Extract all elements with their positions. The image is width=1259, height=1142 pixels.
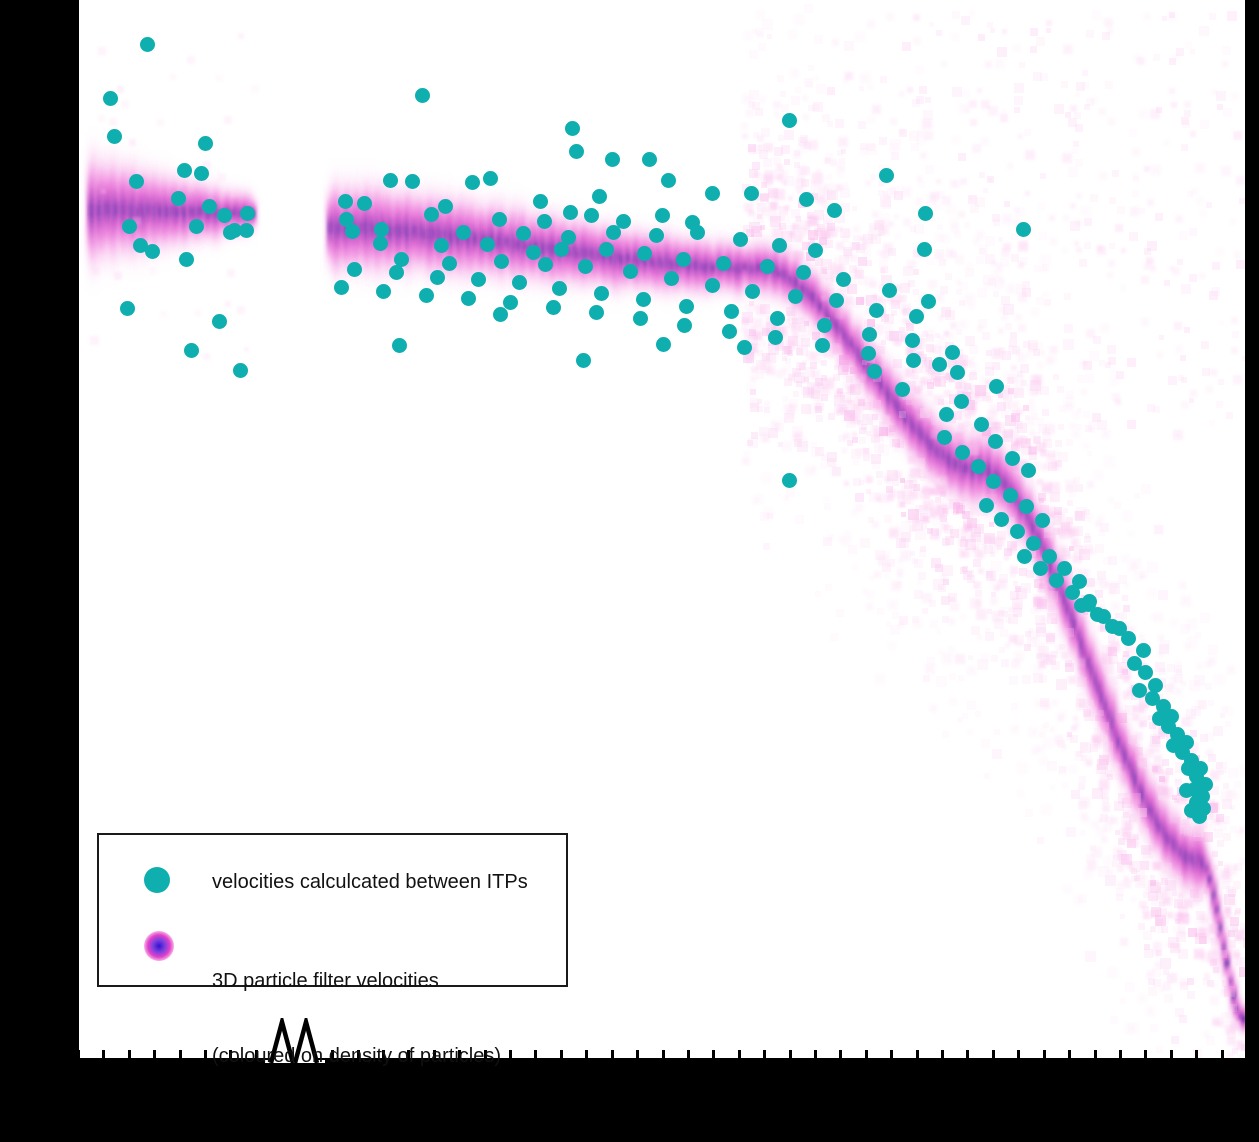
density-column [1094, 632, 1098, 727]
density-column [112, 132, 116, 288]
density-column [1128, 734, 1132, 795]
density-column [1134, 761, 1138, 800]
density-column [328, 181, 332, 275]
density-column [389, 210, 393, 252]
density-column [1124, 715, 1128, 798]
density-column [549, 245, 553, 253]
density-column [1158, 794, 1162, 860]
density-column [853, 323, 857, 374]
density-column [843, 330, 847, 341]
density-column [1087, 634, 1091, 692]
density-column [1083, 643, 1087, 663]
density-column [819, 300, 823, 313]
density-column [1172, 829, 1176, 860]
density-column [406, 227, 410, 237]
density-column [955, 434, 959, 495]
density-column [857, 329, 861, 377]
density-column [393, 227, 397, 234]
density-column [743, 247, 747, 286]
density-column [921, 411, 925, 460]
density-column [328, 200, 332, 257]
density-column [739, 266, 743, 272]
density-column [688, 227, 692, 304]
density-column [108, 161, 112, 257]
density-column [1077, 616, 1081, 655]
density-column [955, 459, 959, 470]
density-column [904, 406, 908, 431]
density-column [1148, 788, 1152, 832]
density-column [658, 251, 662, 273]
density-column [1212, 882, 1216, 909]
density-column [1083, 610, 1087, 696]
density-column [1182, 833, 1186, 878]
density-column [91, 158, 95, 265]
density-column [328, 209, 332, 248]
density-column [789, 274, 793, 286]
density-column [1138, 769, 1142, 809]
density-column [1196, 856, 1200, 864]
density-column [884, 352, 888, 429]
density-column [668, 229, 672, 296]
density-column [597, 238, 601, 271]
density-column [1155, 811, 1159, 830]
density-column [911, 416, 915, 434]
density-column [328, 221, 332, 235]
density-column [614, 254, 618, 262]
density-column [1124, 731, 1128, 781]
density-column [789, 272, 793, 288]
density-column [1148, 795, 1152, 825]
density-column [1162, 783, 1166, 879]
density-column [583, 212, 587, 293]
density-column [928, 427, 932, 461]
density-column [699, 258, 703, 274]
density-column [166, 197, 170, 226]
density-column [908, 389, 912, 451]
density-column [328, 215, 332, 241]
density-column [846, 305, 850, 377]
density-column [750, 251, 754, 287]
density-column [1165, 803, 1169, 873]
density-column [102, 142, 106, 278]
density-column [1179, 819, 1183, 885]
density-column [331, 222, 335, 232]
density-column [840, 315, 844, 343]
density-column [197, 203, 201, 221]
density-column [736, 248, 740, 290]
density-column [146, 170, 150, 249]
density-column [928, 405, 932, 484]
density-column [1201, 851, 1205, 876]
density-column [1162, 820, 1166, 841]
density-column [1128, 743, 1132, 786]
density-column [651, 257, 655, 267]
density-column [1212, 889, 1216, 903]
density-column [362, 176, 366, 279]
density-column [416, 185, 420, 280]
density-column [1049, 516, 1053, 620]
density-column [1080, 603, 1084, 687]
density-column [1131, 759, 1135, 786]
density-column [668, 227, 672, 299]
density-column [102, 204, 106, 216]
density-column [778, 261, 782, 286]
density-column [634, 222, 638, 294]
density-column [733, 247, 737, 291]
density-column [433, 227, 437, 240]
density-column [156, 183, 160, 238]
density-column [853, 317, 857, 382]
density-column [877, 354, 881, 406]
density-column [1185, 841, 1189, 872]
density-column [1208, 861, 1212, 899]
density-column [661, 231, 665, 296]
density-column [98, 166, 102, 256]
density-column [1066, 566, 1070, 651]
density-column [1196, 818, 1200, 904]
density-column [1138, 763, 1142, 816]
density-column [891, 359, 895, 437]
density-column [812, 270, 816, 325]
density-column [1205, 853, 1209, 884]
density-column [1117, 726, 1121, 759]
density-column [515, 215, 519, 273]
density-column [887, 359, 891, 433]
density-column [156, 192, 160, 229]
density-column [911, 389, 915, 461]
density-column [586, 222, 590, 284]
density-column [369, 213, 373, 243]
density-column [1172, 840, 1176, 848]
density-column [1145, 790, 1149, 814]
density-column [702, 256, 706, 279]
density-column [1117, 710, 1121, 775]
density-column [942, 443, 946, 466]
density-column [1208, 876, 1212, 884]
density-column [1114, 701, 1118, 767]
density-column [163, 196, 167, 227]
density-column [331, 167, 335, 287]
density-column [809, 289, 813, 301]
density-column [95, 206, 99, 215]
density-column [1185, 850, 1189, 864]
density-column [105, 168, 109, 250]
density-column [840, 319, 844, 339]
density-column [753, 265, 757, 272]
density-column [474, 231, 478, 248]
density-column [617, 239, 621, 276]
density-column [393, 221, 397, 240]
density-column [416, 227, 420, 236]
density-column [593, 242, 597, 267]
density-column [91, 184, 95, 239]
density-column [166, 208, 170, 215]
density-column [952, 417, 956, 508]
density-column [1128, 729, 1132, 800]
density-column [778, 252, 782, 295]
density-column [362, 207, 366, 247]
density-column [569, 212, 573, 292]
density-column [522, 240, 526, 249]
density-column [695, 231, 699, 300]
density-column [733, 267, 737, 272]
density-column [1131, 738, 1135, 808]
density-column [1165, 825, 1169, 849]
density-column [207, 184, 211, 243]
density-column [91, 168, 95, 254]
density-column [850, 324, 854, 364]
density-column [115, 167, 119, 253]
density-column [634, 231, 638, 287]
density-column [1172, 797, 1176, 892]
density-column [1066, 572, 1070, 646]
density-column [136, 179, 140, 244]
density-column [573, 222, 577, 280]
density-column [925, 418, 929, 462]
density-column [931, 412, 935, 482]
density-column [403, 217, 407, 242]
density-column [180, 177, 184, 245]
density-column [173, 158, 177, 264]
density-column [897, 367, 901, 449]
density-column [897, 397, 901, 417]
density-column [1179, 849, 1183, 854]
density-column [433, 194, 437, 273]
density-column [617, 248, 621, 267]
density-column [569, 244, 573, 261]
density-column [699, 236, 703, 296]
density-column [112, 190, 116, 231]
density-column [654, 257, 658, 270]
density-column [1208, 874, 1212, 885]
density-column [750, 258, 754, 281]
density-column [836, 306, 840, 348]
density-column [651, 248, 655, 276]
density-column [176, 170, 180, 255]
density-column [1196, 827, 1200, 894]
density-column [610, 233, 614, 284]
density-column [928, 421, 932, 468]
density-column [1100, 644, 1104, 751]
density-column [471, 226, 475, 249]
density-column [146, 193, 150, 227]
density-column [709, 260, 713, 275]
density-column [624, 223, 628, 297]
density-column [102, 138, 106, 283]
density-column [98, 196, 102, 225]
density-column [1134, 764, 1138, 797]
density-column [955, 432, 959, 498]
density-column [897, 364, 901, 452]
density-column [775, 260, 779, 282]
density-column [593, 216, 597, 293]
density-column [812, 292, 816, 303]
density-column [739, 245, 743, 292]
density-column [112, 185, 116, 236]
density-column [95, 164, 99, 258]
density-column [512, 232, 516, 255]
density-column [1124, 748, 1128, 766]
density-column [812, 285, 816, 311]
density-column [102, 195, 106, 224]
density-column [702, 262, 706, 274]
density-column [631, 234, 635, 288]
density-column [617, 245, 621, 269]
density-column [1114, 715, 1118, 752]
density-column [207, 180, 211, 248]
density-column [1070, 592, 1074, 642]
density-column [450, 233, 454, 242]
density-column [1196, 847, 1200, 875]
density-column [850, 312, 854, 375]
density-column [785, 268, 789, 284]
density-column [1114, 698, 1118, 770]
density-column [1002, 480, 1006, 487]
density-column [1158, 818, 1162, 837]
density-column [1179, 821, 1183, 883]
density-column [1215, 885, 1219, 935]
density-column [170, 175, 174, 248]
density-column [119, 201, 123, 217]
density-column [88, 181, 92, 240]
density-column [129, 156, 133, 267]
density-column [197, 171, 201, 253]
density-column [1077, 633, 1081, 639]
density-column [928, 440, 932, 448]
density-column [850, 316, 854, 371]
density-column [1196, 830, 1200, 890]
density-column [1104, 697, 1108, 715]
density-column [688, 237, 692, 295]
density-column [850, 314, 854, 373]
density-column [1189, 830, 1193, 886]
density-column [1198, 836, 1202, 881]
density-column [156, 203, 160, 217]
density-column [105, 171, 109, 247]
density-column [1201, 830, 1205, 899]
density-column [91, 204, 95, 218]
density-column [328, 178, 332, 278]
density-column [1083, 607, 1087, 699]
density-column [1185, 836, 1189, 879]
density-column [1083, 640, 1087, 666]
density-column [620, 221, 624, 298]
density-column [176, 206, 180, 218]
density-column [809, 280, 813, 311]
density-column [1175, 803, 1179, 891]
density-column [95, 157, 99, 265]
density-column [775, 267, 779, 274]
density-column [159, 174, 163, 248]
density-column [1201, 844, 1205, 884]
density-column [1049, 526, 1053, 609]
density-column [736, 266, 740, 273]
density-column [1205, 860, 1209, 878]
density-column [580, 217, 584, 288]
density-column [877, 351, 881, 408]
density-column [1192, 845, 1196, 876]
density-column [1162, 827, 1166, 835]
density-column [1179, 843, 1183, 860]
density-column [1087, 644, 1091, 681]
density-column [590, 250, 594, 257]
density-column [705, 258, 709, 275]
density-column [132, 148, 136, 273]
density-column [850, 318, 854, 369]
density-column [1131, 741, 1135, 805]
density-column [904, 394, 908, 443]
density-column [1117, 735, 1121, 750]
density-column [1165, 823, 1169, 853]
density-column [1104, 681, 1108, 731]
density-column [1121, 727, 1125, 774]
density-column [637, 237, 641, 285]
density-column [1165, 828, 1169, 847]
density-column [593, 222, 597, 288]
density-column [156, 206, 160, 214]
density-column [668, 225, 672, 302]
density-column [88, 173, 92, 248]
density-column [467, 200, 471, 278]
density-column [782, 259, 786, 289]
density-column [98, 187, 102, 233]
density-column [430, 191, 434, 278]
density-column [518, 201, 522, 286]
density-column [812, 275, 816, 320]
density-column [1151, 773, 1155, 854]
density-column [1100, 683, 1104, 711]
density-column [1080, 625, 1084, 665]
density-column [853, 344, 857, 354]
density-column [365, 206, 369, 251]
density-column [705, 253, 709, 280]
density-column [467, 203, 471, 274]
density-column [416, 206, 420, 258]
density-column [335, 202, 339, 257]
density-column [413, 201, 417, 261]
density-column [823, 278, 827, 344]
density-column [153, 177, 157, 245]
density-column [627, 225, 631, 292]
density-column [420, 201, 424, 262]
density-column [163, 178, 167, 245]
density-column [753, 251, 757, 288]
density-column [389, 190, 393, 272]
density-column [1172, 837, 1176, 850]
density-column [894, 401, 898, 407]
density-column [955, 461, 959, 467]
density-column [812, 263, 816, 332]
density-column [1131, 722, 1135, 823]
density-column [1104, 684, 1108, 729]
density-column [549, 239, 553, 260]
density-column [833, 312, 837, 333]
density-column [809, 271, 813, 320]
density-column [125, 153, 129, 265]
density-column [891, 357, 895, 440]
density-column [1148, 807, 1152, 813]
density-column [1070, 606, 1074, 629]
density-column [471, 212, 475, 264]
density-column [853, 328, 857, 370]
density-column [644, 230, 648, 291]
density-column [1175, 806, 1179, 888]
density-column [501, 195, 505, 289]
density-column [410, 228, 414, 237]
density-column [743, 250, 747, 283]
density-column [1080, 622, 1084, 668]
density-column [153, 188, 157, 234]
